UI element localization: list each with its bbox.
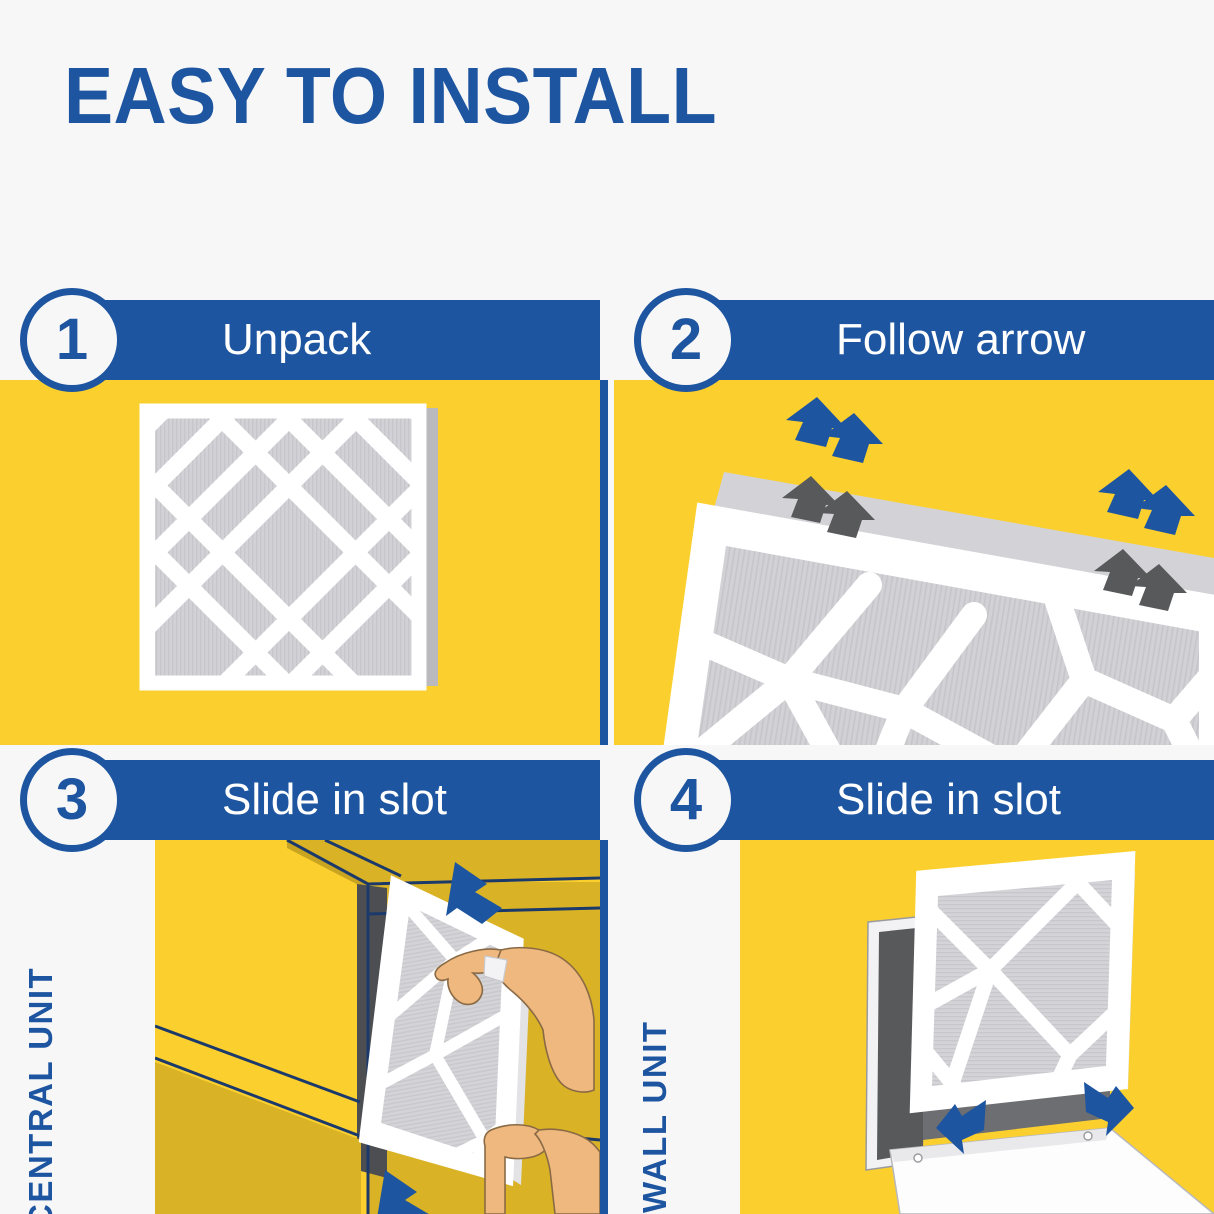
door-screw-left: [914, 1154, 922, 1162]
panel-3-illustration: [155, 840, 600, 1214]
step-2-label: Follow arrow: [836, 300, 1085, 380]
central-unit-svg: [155, 840, 600, 1214]
step-2-header-bar: Follow arrow: [684, 300, 1214, 380]
panel-4-illustration: [740, 840, 1214, 1214]
step-4-header-bar: Slide in slot: [684, 760, 1214, 840]
step-1-header-bar: Unpack: [70, 300, 600, 380]
step-3-label: Slide in slot: [222, 760, 447, 840]
divider-vertical-upper: [600, 380, 608, 745]
step-3-badge: 3: [20, 748, 124, 852]
step-4-badge: 4: [634, 748, 738, 852]
panel-1-illustration: [0, 380, 600, 745]
step-1-badge: 1: [20, 288, 124, 392]
airflow-arrow-blue-right: [1098, 469, 1195, 535]
wall-unit-svg: [740, 840, 1214, 1214]
infographic-root: EASY TO INSTALL: [0, 0, 1214, 1214]
door-screw-right: [1084, 1132, 1092, 1140]
panel-2-illustration: [614, 380, 1214, 745]
flat-filter-svg: [0, 380, 600, 745]
page-title: EASY TO INSTALL: [64, 52, 717, 140]
airflow-arrow-blue-left: [786, 397, 883, 463]
step-2-badge: 2: [634, 288, 738, 392]
unit-label-wall: WALL UNIT: [636, 1020, 674, 1213]
step-4-label: Slide in slot: [836, 760, 1061, 840]
unit-label-central: CENTRAL UNIT: [22, 967, 60, 1214]
step-3-header-bar: Slide in slot: [70, 760, 600, 840]
tilted-filter-svg: [614, 380, 1214, 745]
step-1-label: Unpack: [222, 300, 371, 380]
divider-vertical-lower: [600, 840, 608, 1214]
